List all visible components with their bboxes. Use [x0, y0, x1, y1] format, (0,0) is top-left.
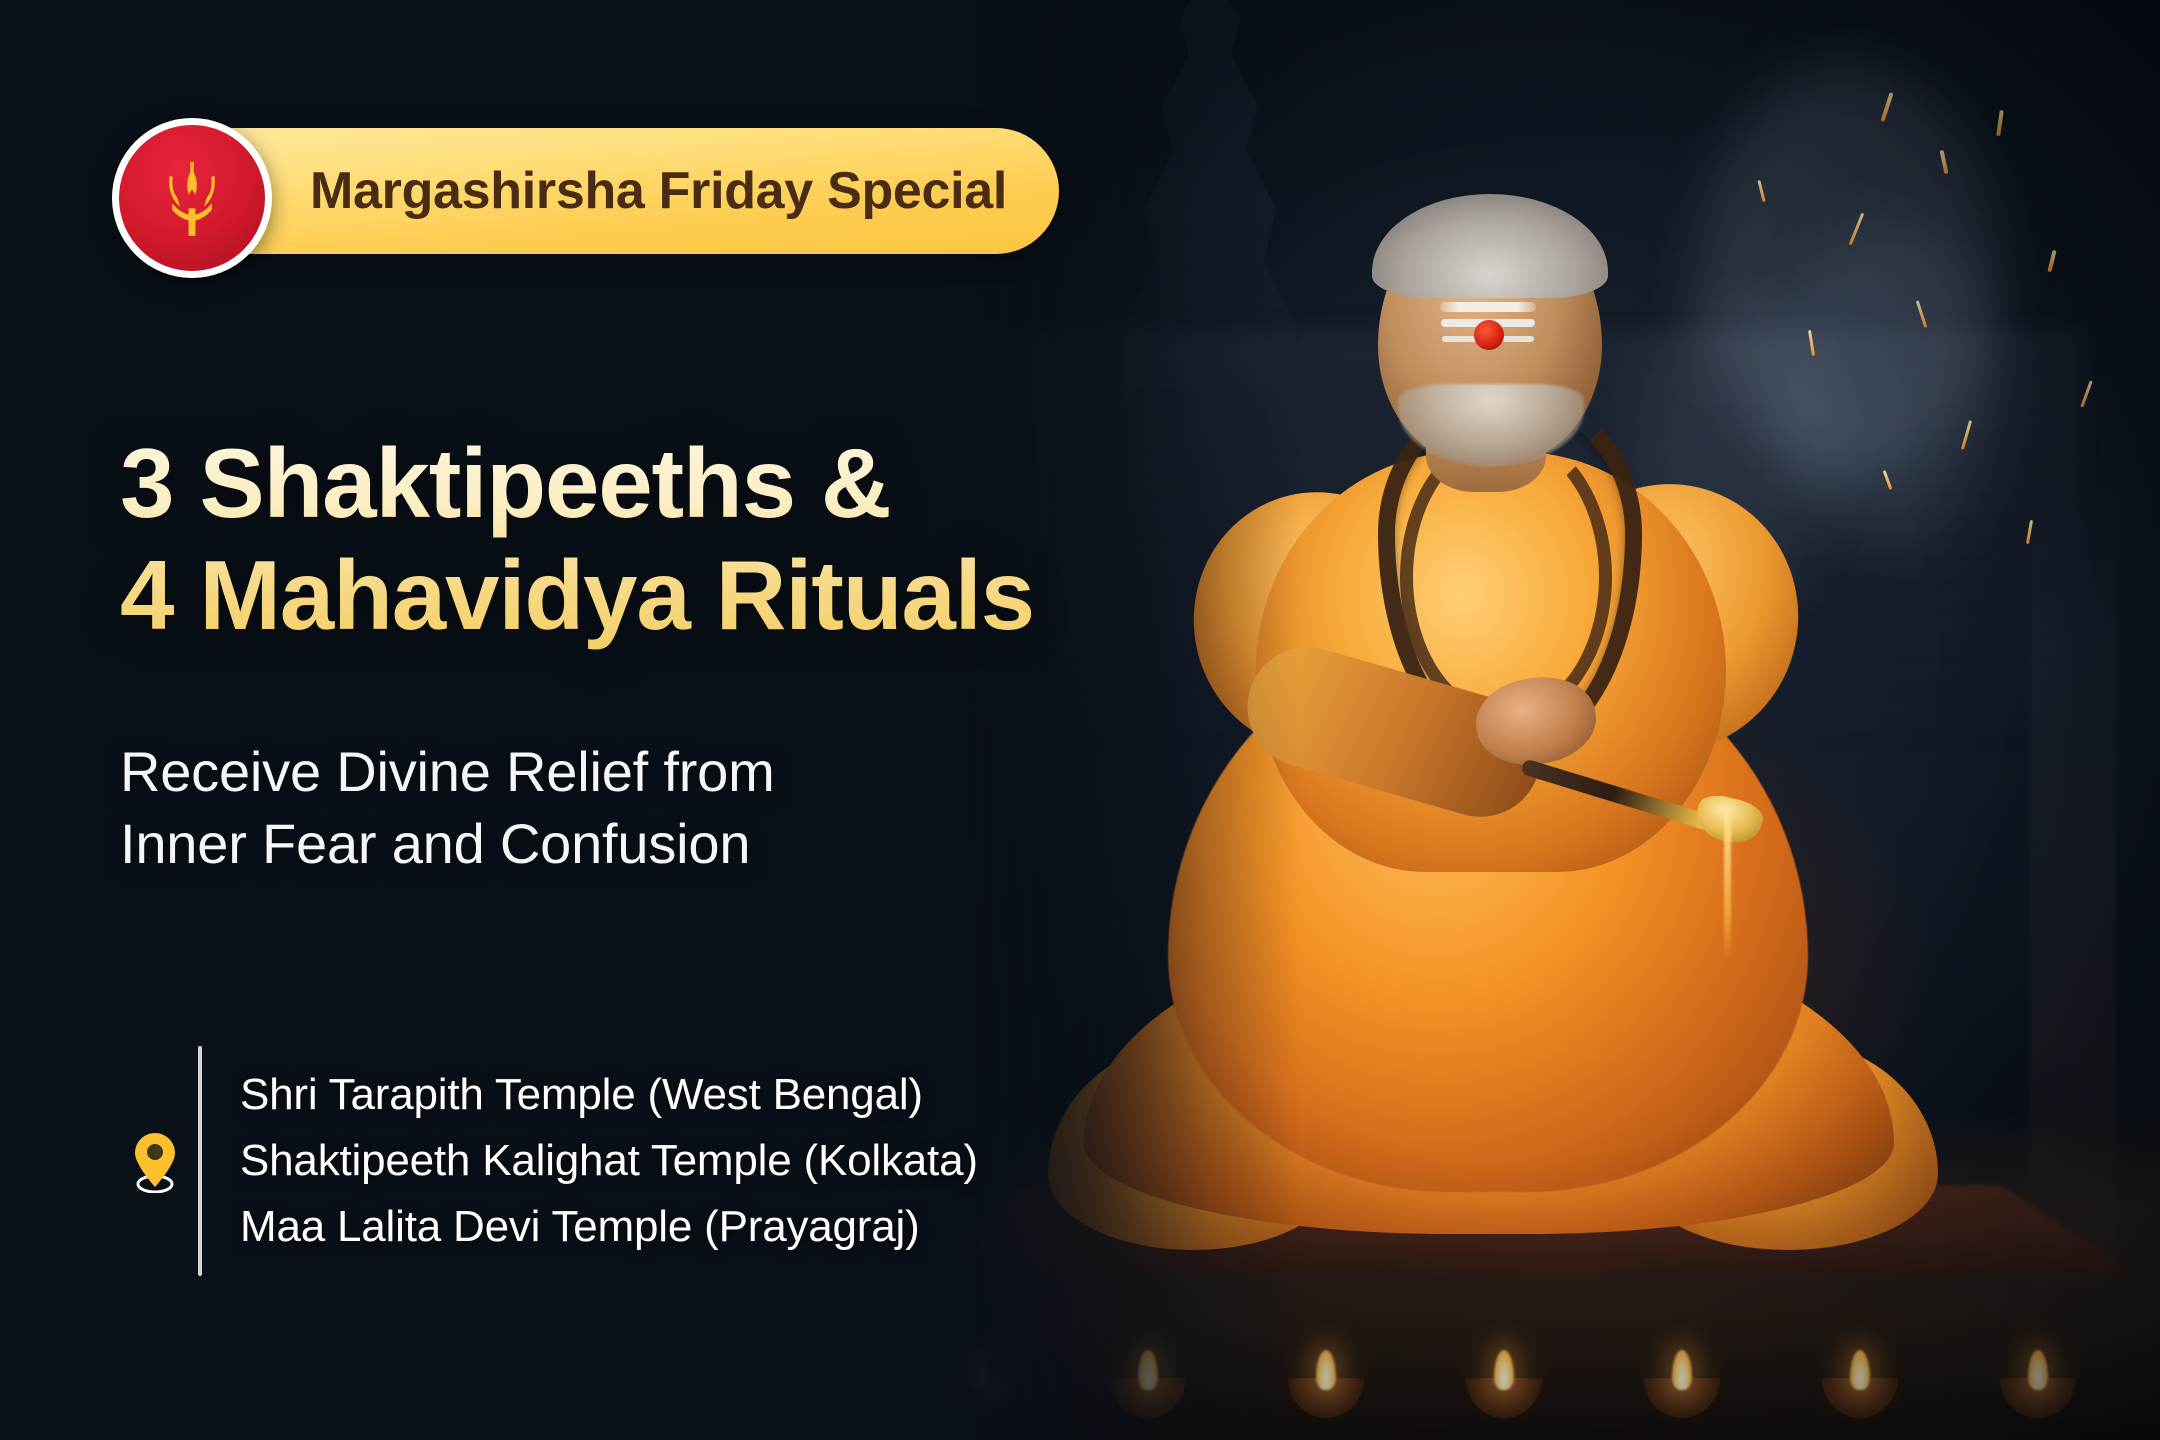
page-subtitle: Receive Divine Relief from Inner Fear an…: [120, 736, 775, 879]
list-item: Maa Lalita Devi Temple (Prayagraj): [240, 1201, 978, 1253]
location-items: Shri Tarapith Temple (West Bengal) Shakt…: [240, 1069, 978, 1253]
page-title: 3 Shaktipeeths & 4 Mahavidya Rituals: [120, 428, 1034, 651]
list-item: Shri Tarapith Temple (West Bengal): [240, 1069, 978, 1121]
subtitle-line-1: Receive Divine Relief from: [120, 736, 775, 808]
location-list: Shri Tarapith Temple (West Bengal) Shakt…: [112, 1046, 978, 1276]
subtitle-line-2: Inner Fear and Confusion: [120, 808, 775, 880]
promotional-banner: Margashirsha Friday Special 3 Shaktipeet…: [0, 0, 2160, 1440]
location-pin-icon: [112, 1129, 198, 1193]
badge-label: Margashirsha Friday Special: [310, 161, 1007, 221]
special-badge[interactable]: Margashirsha Friday Special: [120, 128, 1059, 254]
headline-line-1: 3 Shaktipeeths &: [120, 428, 1034, 540]
badge-pill[interactable]: Margashirsha Friday Special: [120, 128, 1059, 254]
list-item: Shaktipeeth Kalighat Temple (Kolkata): [240, 1135, 978, 1187]
location-divider: [198, 1046, 202, 1276]
trident-icon: [112, 118, 272, 278]
content-column: Margashirsha Friday Special 3 Shaktipeet…: [0, 0, 1280, 1440]
headline-line-2: 4 Mahavidya Rituals: [120, 540, 1034, 652]
